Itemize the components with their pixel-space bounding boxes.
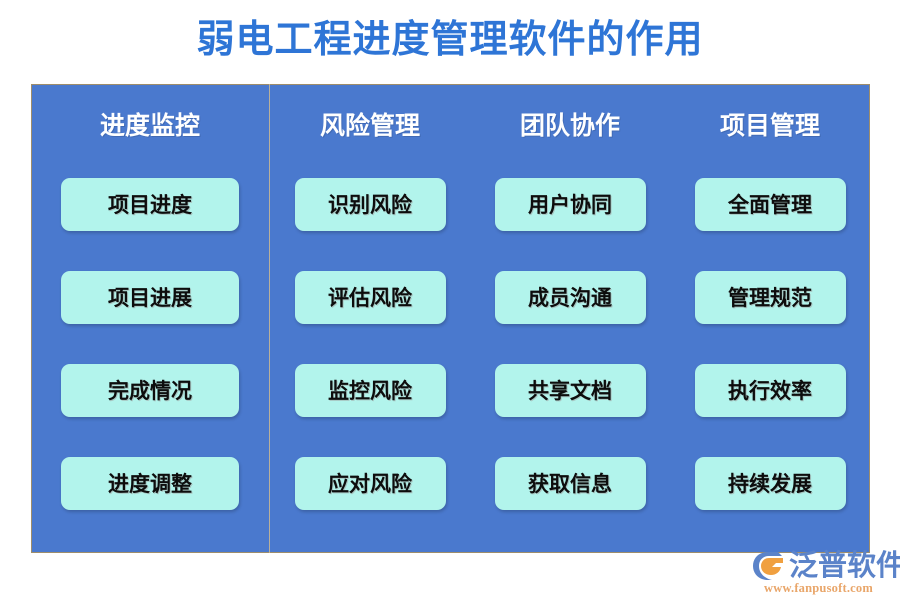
card-item[interactable]: 应对风险 xyxy=(295,457,446,510)
logo-url: www.fanpusoft.com xyxy=(764,581,873,596)
card-label: 项目进展 xyxy=(108,285,192,311)
fanpu-swirl-icon xyxy=(752,551,786,581)
card-item[interactable]: 进度调整 xyxy=(61,457,239,510)
card-item[interactable]: 项目进度 xyxy=(61,178,239,231)
card-item[interactable]: 完成情况 xyxy=(61,364,239,417)
card-label: 应对风险 xyxy=(328,471,412,497)
card-item[interactable]: 用户协同 xyxy=(495,178,646,231)
card-item[interactable]: 持续发展 xyxy=(695,457,846,510)
card-label: 用户协同 xyxy=(528,192,612,218)
card-list: 用户协同 成员沟通 共享文档 获取信息 xyxy=(470,178,670,550)
card-item[interactable]: 监控风险 xyxy=(295,364,446,417)
card-label: 识别风险 xyxy=(328,192,412,218)
card-item[interactable]: 成员沟通 xyxy=(495,271,646,324)
column-header: 项目管理 xyxy=(670,110,870,144)
card-label: 评估风险 xyxy=(328,285,412,311)
card-label: 完成情况 xyxy=(108,378,192,404)
card-item[interactable]: 管理规范 xyxy=(695,271,846,324)
card-item[interactable]: 共享文档 xyxy=(495,364,646,417)
category-column-risk-management: 风险管理 识别风险 评估风险 监控风险 应对风险 xyxy=(270,84,470,553)
logo-name: 泛普软件 xyxy=(789,551,900,581)
card-list: 识别风险 评估风险 监控风险 应对风险 xyxy=(270,178,470,550)
card-item[interactable]: 评估风险 xyxy=(295,271,446,324)
card-label: 持续发展 xyxy=(728,471,812,497)
column-header: 团队协作 xyxy=(470,110,670,144)
card-label: 进度调整 xyxy=(108,471,192,497)
card-item[interactable]: 项目进展 xyxy=(61,271,239,324)
logo-row: 泛普软件 xyxy=(752,551,900,581)
card-label: 管理规范 xyxy=(728,285,812,311)
card-label: 获取信息 xyxy=(528,471,612,497)
card-label: 监控风险 xyxy=(328,378,412,404)
category-column-progress-monitoring: 进度监控 项目进度 项目进展 完成情况 进度调整 xyxy=(31,84,269,553)
card-label: 执行效率 xyxy=(728,378,812,404)
category-column-team-collaboration: 团队协作 用户协同 成员沟通 共享文档 获取信息 xyxy=(470,84,670,553)
card-label: 全面管理 xyxy=(728,192,812,218)
card-item[interactable]: 识别风险 xyxy=(295,178,446,231)
card-label: 项目进度 xyxy=(108,192,192,218)
column-header: 风险管理 xyxy=(270,110,470,144)
card-label: 共享文档 xyxy=(528,378,612,404)
card-list: 项目进度 项目进展 完成情况 进度调整 xyxy=(31,178,269,550)
card-item[interactable]: 获取信息 xyxy=(495,457,646,510)
category-column-project-management: 项目管理 全面管理 管理规范 执行效率 持续发展 xyxy=(670,84,870,553)
brand-logo: 泛普软件 www.fanpusoft.com xyxy=(752,551,892,597)
card-list: 全面管理 管理规范 执行效率 持续发展 xyxy=(670,178,870,550)
card-item[interactable]: 全面管理 xyxy=(695,178,846,231)
card-item[interactable]: 执行效率 xyxy=(695,364,846,417)
page-title: 弱电工程进度管理软件的作用 xyxy=(0,14,900,66)
column-header: 进度监控 xyxy=(31,110,269,144)
card-label: 成员沟通 xyxy=(528,285,612,311)
content-panel: 进度监控 项目进度 项目进展 完成情况 进度调整 风险管理 识别风险 评估风险 … xyxy=(31,84,870,553)
